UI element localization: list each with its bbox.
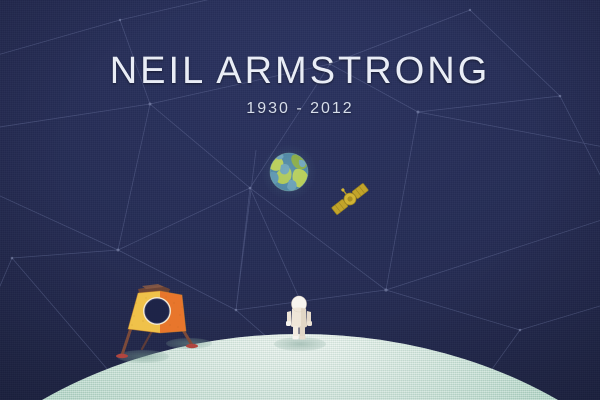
- satellite: [331, 180, 369, 218]
- page-title: NEIL ARMSTRONG: [0, 50, 600, 93]
- lunar-module-icon: [112, 283, 208, 367]
- astronaut: [281, 295, 317, 341]
- earth-glow: [262, 145, 316, 199]
- lunar-module: [112, 283, 208, 367]
- astronaut-icon: [281, 295, 317, 341]
- satellite-icon: [331, 180, 369, 218]
- poster-scene: NEIL ARMSTRONG 1930 - 2012: [0, 0, 600, 400]
- life-dates: 1930 - 2012: [0, 100, 600, 118]
- earth: [269, 152, 309, 192]
